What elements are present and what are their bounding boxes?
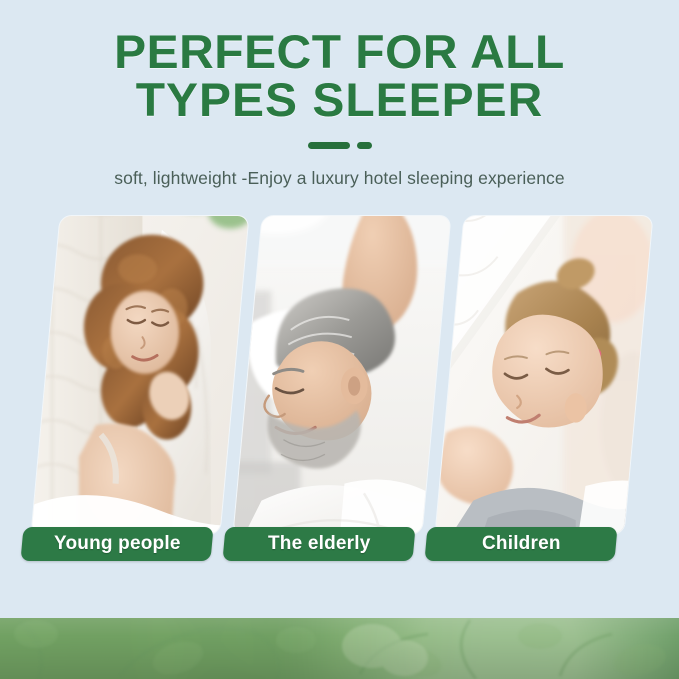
panel-label-young-people: Young people — [20, 527, 213, 561]
panel-the-elderly — [234, 216, 451, 534]
panel-children — [436, 216, 653, 534]
photo-the-elderly — [234, 216, 451, 534]
photo-young-people — [32, 216, 249, 534]
photo-children — [436, 216, 653, 534]
divider-dash-long-icon — [308, 142, 350, 149]
divider — [0, 142, 679, 149]
the-elderly-illustration — [234, 216, 451, 534]
divider-dash-short-icon — [357, 142, 372, 149]
foliage-band — [0, 618, 679, 679]
subtitle: soft, lightweight -Enjoy a luxury hotel … — [0, 168, 679, 189]
title-line-1: PERFECT FOR ALL — [0, 28, 679, 76]
title-line-2: TYPES SLEEPER — [0, 76, 679, 124]
panel-label-text: Young people — [54, 533, 181, 555]
young-people-illustration — [32, 216, 249, 534]
panel-row: Young people The elderly Children — [0, 216, 679, 568]
page-title: PERFECT FOR ALL TYPES SLEEPER — [0, 28, 679, 124]
foliage-sheen — [0, 618, 679, 679]
panel-label-children: Children — [424, 527, 617, 561]
panel-label-text: The elderly — [268, 533, 371, 555]
panel-label-text: Children — [482, 533, 561, 555]
panel-label-the-elderly: The elderly — [222, 527, 415, 561]
panel-young-people — [32, 216, 249, 534]
promo-canvas: PERFECT FOR ALL TYPES SLEEPER soft, ligh… — [0, 0, 679, 679]
children-illustration — [436, 216, 653, 534]
